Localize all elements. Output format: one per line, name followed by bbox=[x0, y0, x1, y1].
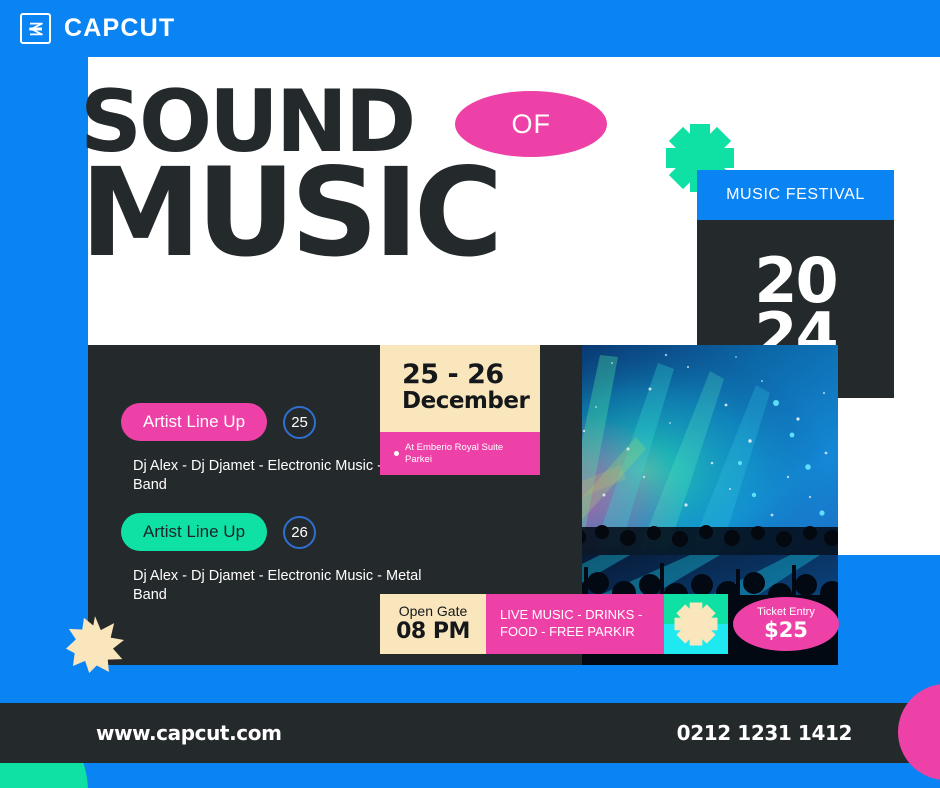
brand-logo[interactable]: CAPCUT bbox=[20, 13, 175, 44]
footer-website[interactable]: www.capcut.com bbox=[96, 721, 282, 745]
event-info-strip: Open Gate 08 PM LIVE MUSIC - DRINKS - FO… bbox=[380, 594, 728, 654]
amenities-line-1: LIVE MUSIC - DRINKS - bbox=[500, 607, 642, 624]
footer-bar: www.capcut.com 0212 1231 1412 bbox=[0, 703, 940, 763]
page-title: SOUND OF MUSIC bbox=[80, 82, 700, 269]
lineup-day-26: 26 bbox=[283, 516, 316, 549]
bullet-icon bbox=[394, 451, 399, 456]
date-card: 25 - 26 December At Emberio Royal Suite … bbox=[380, 345, 540, 475]
cream-starburst-icon bbox=[66, 615, 124, 673]
open-gate-label: Open Gate bbox=[399, 604, 468, 619]
title-music: MUSIC bbox=[80, 157, 700, 269]
header-bar: CAPCUT bbox=[0, 0, 940, 57]
ticket-entry-label: Ticket Entry bbox=[757, 606, 815, 618]
lineup-pill-26[interactable]: Artist Line Up bbox=[121, 513, 267, 551]
capcut-logo-icon bbox=[20, 13, 51, 44]
concert-photo bbox=[540, 345, 838, 555]
ticket-entry-badge[interactable]: Ticket Entry $25 bbox=[733, 597, 839, 651]
ticket-entry-price: $25 bbox=[764, 619, 808, 642]
poster-canvas: CAPCUT SOUND OF MUSIC MUSIC FESTIVAL bbox=[0, 0, 940, 788]
lineup-row: Artist Line Up 26 bbox=[121, 513, 433, 551]
brand-name: CAPCUT bbox=[64, 14, 175, 43]
amenities-line-2: FOOD - FREE PARKIR bbox=[500, 624, 642, 641]
date-card-top: 25 - 26 December bbox=[380, 345, 540, 432]
lineup-day-25: 25 bbox=[283, 406, 316, 439]
venue-bar: At Emberio Royal Suite Parkei bbox=[380, 432, 540, 475]
footer-phone[interactable]: 0212 1231 1412 bbox=[677, 721, 852, 745]
date-month: December bbox=[402, 389, 540, 414]
badge-label: MUSIC FESTIVAL bbox=[697, 170, 894, 220]
cream-asterisk-icon bbox=[672, 600, 720, 648]
venue-text: At Emberio Royal Suite Parkei bbox=[405, 442, 530, 466]
lineup-block-26: Artist Line Up 26 Dj Alex - Dj Djamet - … bbox=[121, 513, 433, 605]
amenities-text: LIVE MUSIC - DRINKS - FOOD - FREE PARKIR bbox=[500, 607, 642, 641]
open-gate-time: 08 PM bbox=[396, 619, 470, 644]
lineup-pill-25[interactable]: Artist Line Up bbox=[121, 403, 267, 441]
open-gate-block: Open Gate 08 PM bbox=[380, 594, 486, 654]
title-of-label: OF bbox=[512, 109, 552, 140]
left-blue-band bbox=[0, 57, 88, 704]
amenities-block: LIVE MUSIC - DRINKS - FOOD - FREE PARKIR bbox=[486, 594, 664, 654]
strip-asterisk-block bbox=[664, 594, 728, 654]
date-days: 25 - 26 bbox=[402, 361, 540, 389]
